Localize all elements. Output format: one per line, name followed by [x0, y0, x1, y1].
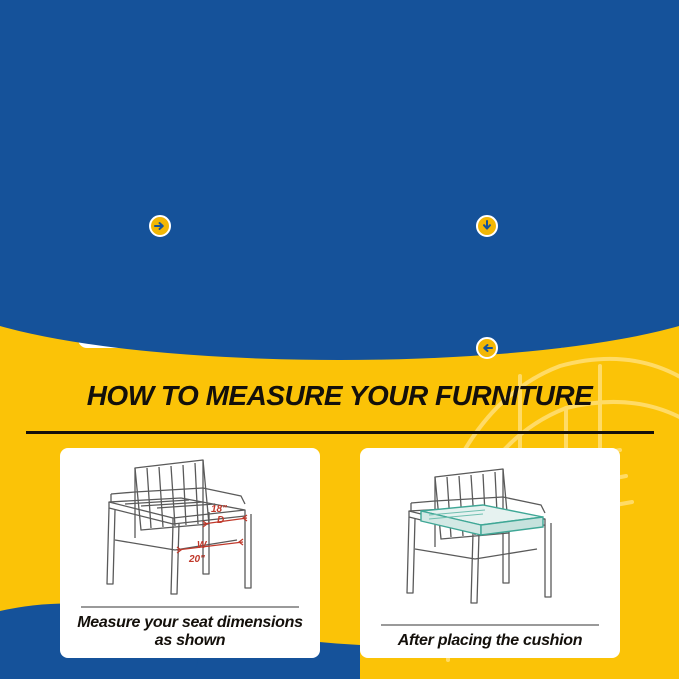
dimension-width-axis: W [197, 540, 208, 551]
chair-with-cushion-icon [385, 463, 595, 613]
measure-card-1-divider [81, 606, 299, 608]
measure-card-dimensions: 18" D W 20" Measure your seat dimensions… [60, 448, 320, 658]
dimension-width-value: 20" [188, 554, 205, 565]
measure-card-2-figure [385, 448, 595, 624]
chair-with-dimensions-icon: 18" D W 20" [85, 454, 295, 604]
measure-card-1-figure: 18" D W 20" [85, 448, 295, 606]
measure-card-1-caption: Measure your seat dimensions as shown [60, 614, 320, 658]
arrow-down-icon [476, 215, 498, 237]
measure-title-divider [26, 431, 654, 434]
seat-cushion [421, 505, 543, 535]
dimension-depth-axis: D [217, 515, 224, 526]
assembly-section-background [0, 0, 679, 360]
arrow-right-icon [149, 215, 171, 237]
measure-card-cushion: After placing the cushion [360, 448, 620, 658]
measure-card-2-divider [381, 624, 599, 626]
measure-card-2-caption: After placing the cushion [390, 632, 591, 658]
measure-section-title: HOW TO MEASURE YOUR FURNITURE [0, 380, 679, 412]
infographic-poster: EASY ASSEMBLY WILL BE REQUIRED [0, 0, 679, 679]
arrow-left-icon [476, 337, 498, 359]
measure-cards-row: 18" D W 20" Measure your seat dimensions… [60, 448, 620, 658]
dimension-depth-value: 18" [211, 504, 227, 515]
